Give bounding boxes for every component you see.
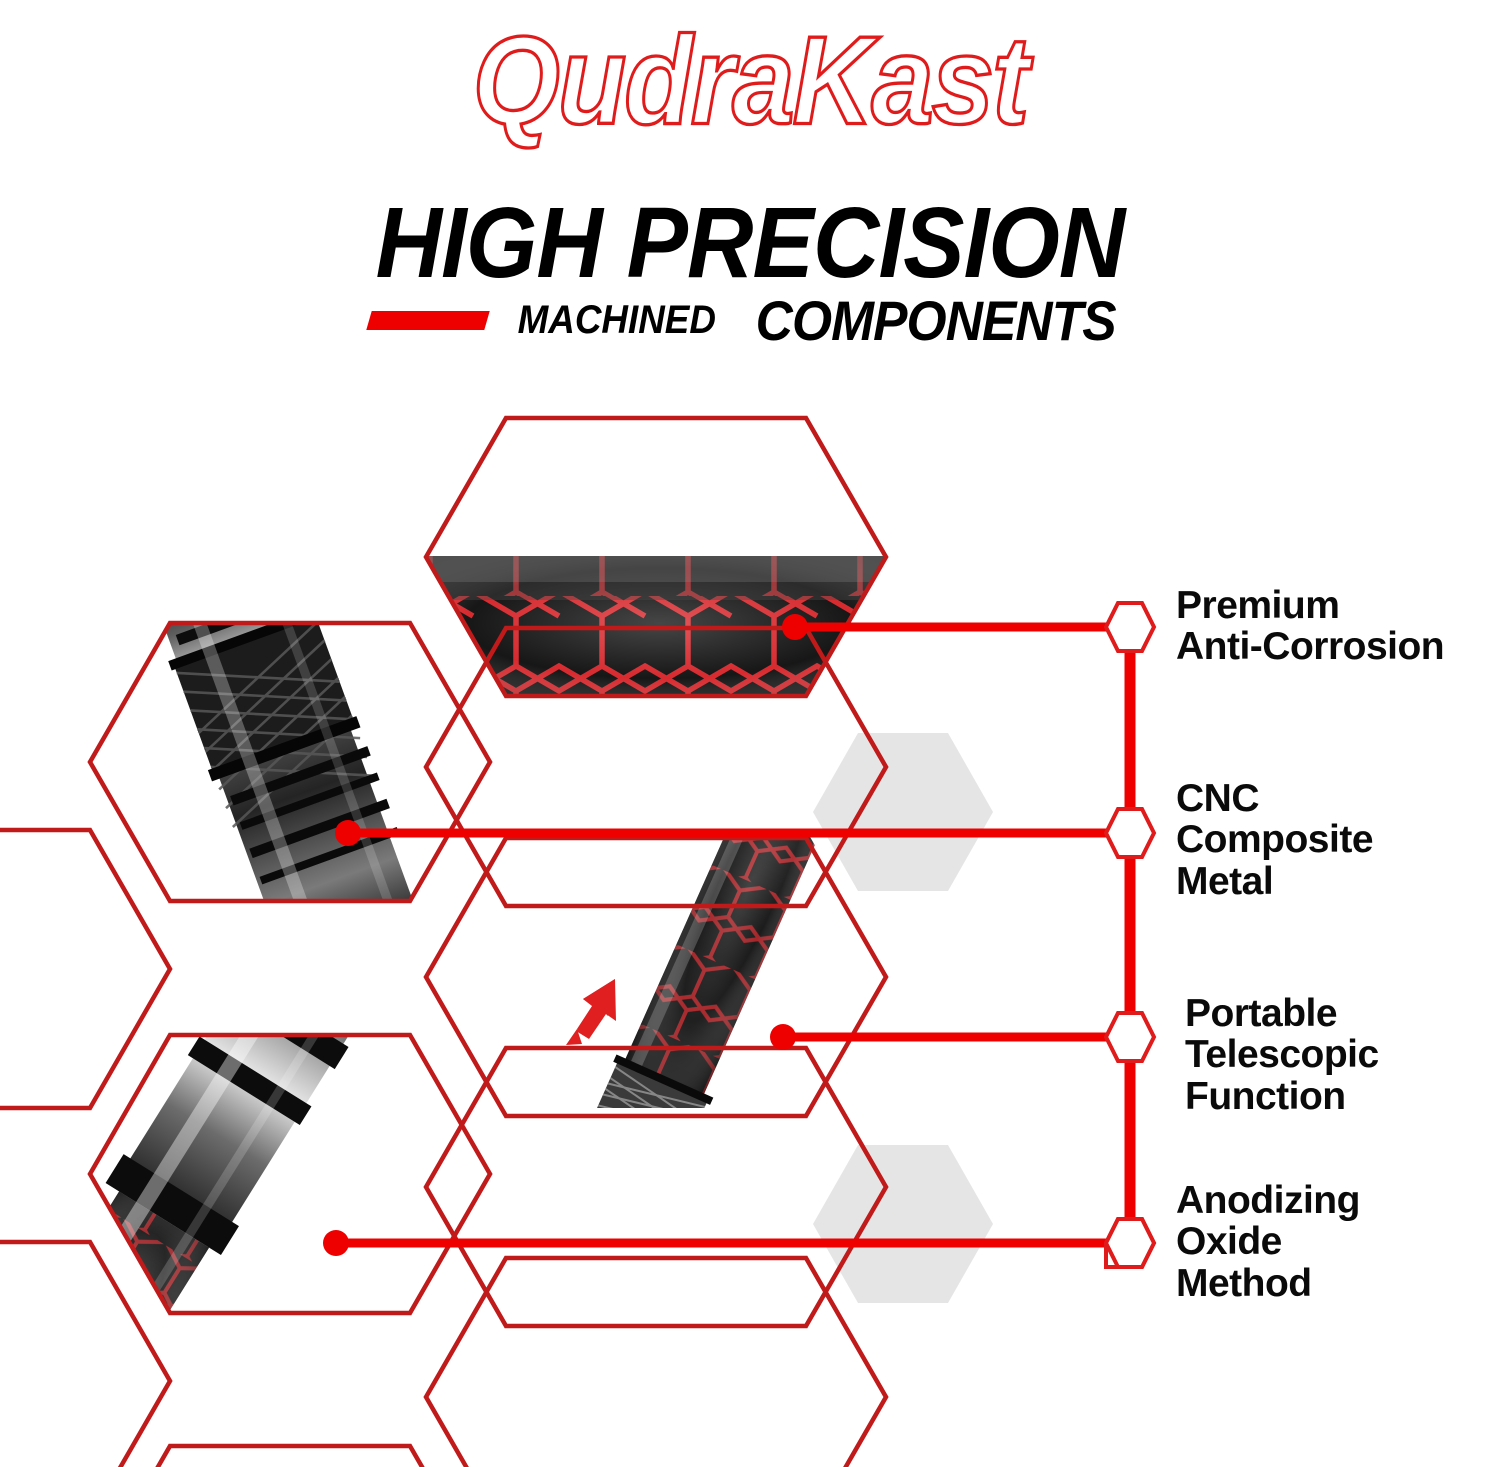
gray-hexagon-1 <box>813 733 993 891</box>
callout-dot-3[interactable] <box>770 1024 796 1050</box>
hex-outline-center-bottom2 <box>426 1258 886 1467</box>
extend-arrow-icon <box>566 979 616 1045</box>
hex-outline-far-left-upper <box>0 830 170 1108</box>
hex-outline-far-left-lower <box>0 1242 170 1467</box>
callout-label-premium-anti-corrosion: Premium Anti-Corrosion <box>1176 585 1444 668</box>
callout-label-portable-telescopic-function: Portable Telescopic Function <box>1185 993 1379 1117</box>
accent-dash <box>366 311 489 330</box>
callout-dot-4[interactable] <box>323 1230 349 1256</box>
infographic-root: QudraKast HIGH PRECISION MACHINED COMPON… <box>0 0 1500 1467</box>
callout-dot-1[interactable] <box>782 614 808 640</box>
hex-outline-bottom-left <box>90 1446 490 1467</box>
panel-anti-corrosion-photo <box>380 556 940 716</box>
callout-label-anodizing-oxide-method: Anodizing Oxide Method <box>1176 1180 1360 1304</box>
gray-hexagon-2 <box>813 1145 993 1303</box>
brand-logo: QudraKast <box>0 8 1500 152</box>
subtitle-large: COMPONENTS <box>756 288 1116 353</box>
subtitle-row: MACHINED COMPONENTS <box>0 288 1500 353</box>
subtitle-small: MACHINED <box>517 298 715 343</box>
decorative-gray-hexagons <box>813 733 993 1303</box>
callout-label-cnc-composite-metal: CNC Composite Metal <box>1176 778 1373 902</box>
callout-dot-2[interactable] <box>335 820 361 846</box>
callout-node-1[interactable] <box>1106 603 1154 651</box>
page-title: HIGH PRECISION <box>60 186 1440 301</box>
callout-node-3[interactable] <box>1106 1013 1154 1061</box>
callout-node-2[interactable] <box>1106 809 1154 857</box>
panel-anodizing-photo <box>0 834 542 1467</box>
